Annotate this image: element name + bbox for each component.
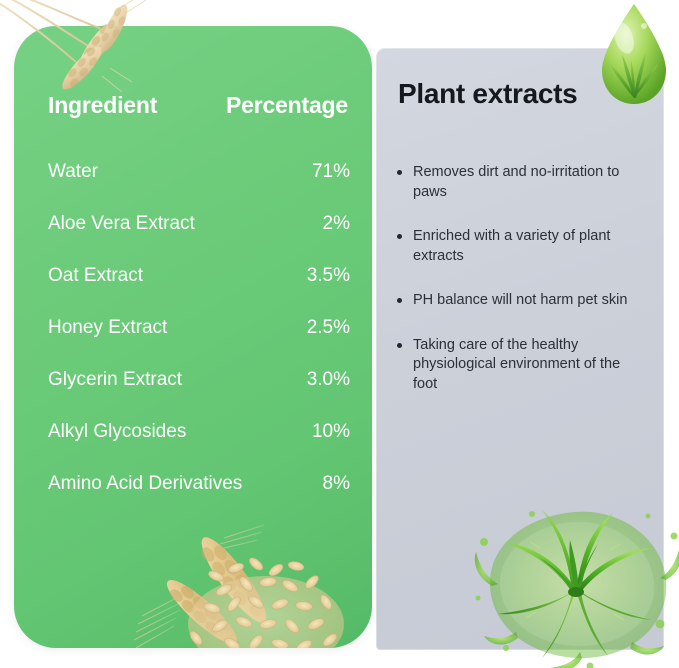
bullet-text: Enriched with a variety of plant extract… bbox=[413, 228, 610, 264]
ingredient-name: Water bbox=[48, 161, 98, 183]
bullet-dot-icon bbox=[397, 234, 402, 239]
list-item: PH balance will not harm pet skin bbox=[394, 291, 646, 311]
table-row: Amino Acid Derivatives 8% bbox=[48, 473, 350, 525]
ingredient-percentage: 8% bbox=[323, 473, 350, 495]
list-item: Enriched with a variety of plant extract… bbox=[394, 227, 646, 266]
ingredient-percentage: 2.5% bbox=[307, 317, 350, 339]
benefits-bullet-list: Removes dirt and no-irritation to paws E… bbox=[394, 163, 646, 394]
ingredient-name: Glycerin Extract bbox=[48, 369, 182, 391]
table-row: Alkyl Glycosides 10% bbox=[48, 421, 350, 473]
table-row: Oat Extract 3.5% bbox=[48, 265, 350, 317]
table-row: Water 71% bbox=[48, 161, 350, 213]
list-item: Removes dirt and no-irritation to paws bbox=[394, 163, 646, 202]
bullet-text: Taking care of the healthy physiological… bbox=[413, 337, 620, 392]
ingredient-name: Amino Acid Derivatives bbox=[48, 473, 242, 495]
ingredient-percentage: 3.5% bbox=[307, 265, 350, 287]
bullet-text: Removes dirt and no-irritation to paws bbox=[413, 164, 619, 200]
ingredients-card: Ingredient Percentage Water 71% Aloe Ver… bbox=[14, 26, 372, 648]
table-row: Glycerin Extract 3.0% bbox=[48, 369, 350, 421]
benefits-panel-title: Plant extracts bbox=[398, 78, 577, 110]
bullet-dot-icon bbox=[397, 170, 402, 175]
ingredient-name: Aloe Vera Extract bbox=[48, 213, 195, 235]
wheat-grains-image bbox=[124, 520, 372, 648]
column-header-percentage: Percentage bbox=[226, 92, 348, 119]
ingredient-percentage: 10% bbox=[312, 421, 350, 443]
ingredient-name: Oat Extract bbox=[48, 265, 143, 287]
bullet-text: PH balance will not harm pet skin bbox=[413, 292, 627, 308]
aloe-vera-splash-image bbox=[470, 498, 679, 668]
ingredients-table-body: Water 71% Aloe Vera Extract 2% Oat Extra… bbox=[48, 161, 350, 525]
bullet-dot-icon bbox=[397, 298, 402, 303]
ingredient-percentage: 3.0% bbox=[307, 369, 350, 391]
aloe-droplet-icon bbox=[598, 2, 670, 106]
wheat-sprig-icon bbox=[0, 0, 152, 100]
ingredient-percentage: 71% bbox=[312, 161, 350, 183]
bullet-dot-icon bbox=[397, 343, 402, 348]
table-row: Honey Extract 2.5% bbox=[48, 317, 350, 369]
table-row: Aloe Vera Extract 2% bbox=[48, 213, 350, 265]
ingredient-percentage: 2% bbox=[323, 213, 350, 235]
ingredient-name: Honey Extract bbox=[48, 317, 167, 339]
ingredient-name: Alkyl Glycosides bbox=[48, 421, 186, 443]
infographic-canvas: Plant extracts Removes dirt and no-irrit… bbox=[0, 0, 679, 668]
list-item: Taking care of the healthy physiological… bbox=[394, 336, 646, 395]
